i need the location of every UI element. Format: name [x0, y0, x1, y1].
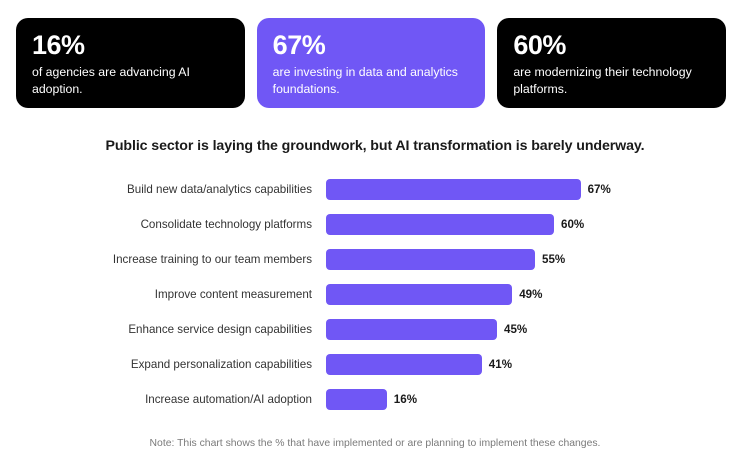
- bar-fill: [326, 319, 497, 340]
- bar-track: 45%: [326, 319, 750, 340]
- bar-category-label: Increase training to our team members: [0, 254, 326, 266]
- stat-card-row: 16% of agencies are advancing AI adoptio…: [16, 18, 726, 108]
- bar-track: 60%: [326, 214, 750, 235]
- stat-card-value: 60%: [513, 31, 710, 59]
- stat-card-value: 16%: [32, 31, 229, 59]
- bar-track: 55%: [326, 249, 750, 270]
- bar-value-label: 16%: [394, 394, 417, 406]
- bar-track: 16%: [326, 389, 750, 410]
- bar-track: 49%: [326, 284, 750, 305]
- horizontal-bar-chart: Build new data/analytics capabilities67%…: [0, 172, 750, 412]
- bar-category-label: Improve content measurement: [0, 289, 326, 301]
- infographic-canvas: 16% of agencies are advancing AI adoptio…: [0, 0, 750, 469]
- bar-value-label: 49%: [519, 289, 542, 301]
- bar-row: Improve content measurement49%: [0, 277, 750, 312]
- bar-category-label: Expand personalization capabilities: [0, 359, 326, 371]
- bar-row: Expand personalization capabilities41%: [0, 347, 750, 382]
- bar-value-label: 45%: [504, 324, 527, 336]
- bar-value-label: 67%: [588, 184, 611, 196]
- stat-card-description: of agencies are advancing AI adoption.: [32, 64, 229, 97]
- bar-category-label: Build new data/analytics capabilities: [0, 184, 326, 196]
- bar-row: Build new data/analytics capabilities67%: [0, 172, 750, 207]
- chart-note: Note: This chart shows the % that have i…: [0, 437, 750, 451]
- bar-row: Consolidate technology platforms60%: [0, 207, 750, 242]
- bar-fill: [326, 354, 482, 375]
- bar-value-label: 60%: [561, 219, 584, 231]
- bar-fill: [326, 284, 512, 305]
- bar-track: 67%: [326, 179, 750, 200]
- stat-card-value: 67%: [273, 31, 470, 59]
- bar-row: Increase training to our team members55%: [0, 242, 750, 277]
- stat-card-modernizing-technology: 60% are modernizing their technology pla…: [497, 18, 726, 108]
- bar-fill: [326, 249, 535, 270]
- stat-card-investing-data-analytics: 67% are investing in data and analytics …: [257, 18, 486, 108]
- bar-category-label: Increase automation/AI adoption: [0, 394, 326, 406]
- bar-track: 41%: [326, 354, 750, 375]
- bar-row: Increase automation/AI adoption16%: [0, 382, 750, 417]
- bar-category-label: Consolidate technology platforms: [0, 219, 326, 231]
- bar-category-label: Enhance service design capabilities: [0, 324, 326, 336]
- stat-card-description: are modernizing their technology platfor…: [513, 64, 710, 97]
- bar-fill: [326, 179, 581, 200]
- bar-value-label: 55%: [542, 254, 565, 266]
- stat-card-agencies-advancing-ai: 16% of agencies are advancing AI adoptio…: [16, 18, 245, 108]
- bar-value-label: 41%: [489, 359, 512, 371]
- bar-row: Enhance service design capabilities45%: [0, 312, 750, 347]
- stat-card-description: are investing in data and analytics foun…: [273, 64, 470, 97]
- bar-fill: [326, 214, 554, 235]
- bar-fill: [326, 389, 387, 410]
- chart-title: Public sector is laying the groundwork, …: [0, 138, 750, 154]
